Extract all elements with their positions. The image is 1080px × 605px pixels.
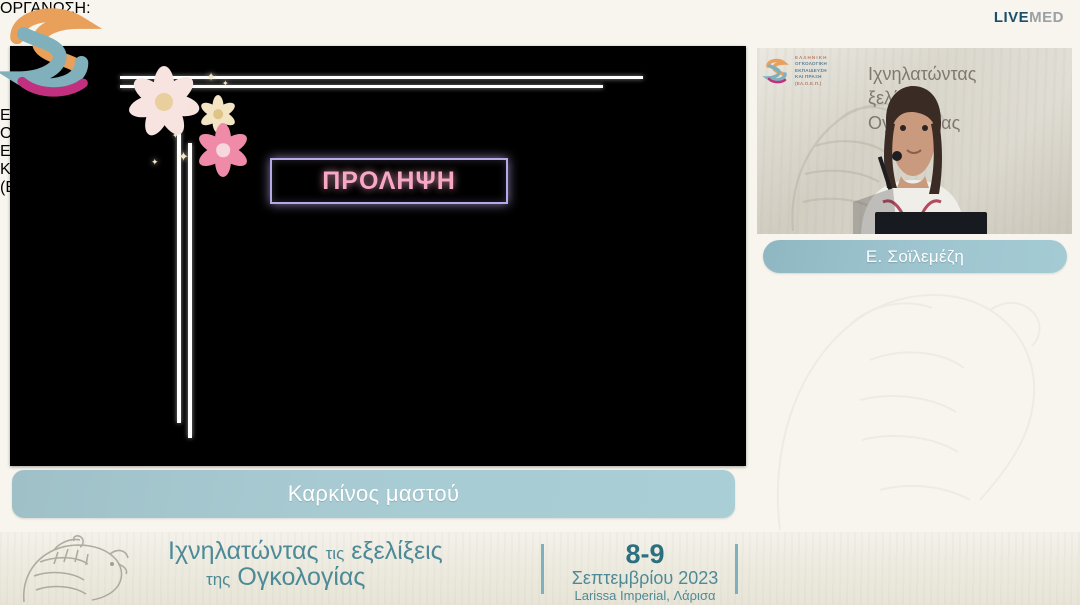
banner-date-month: Σεπτεμβρίου 2023 (560, 569, 730, 588)
conf-title-small-1: τις (326, 544, 345, 563)
video-logo-line5: (ΕΛ.Ο.Ε.Π.) (795, 81, 828, 88)
livemed-med-text: MED (1029, 9, 1064, 26)
podium-laptop (875, 212, 987, 234)
org-logo-line1: ΕΛΛΗΝΙΚΗ (0, 107, 102, 125)
video-logo-line2: ΟΓΚΟΛΟΓΙΚΗ (795, 61, 828, 68)
speaker-name: Ε. Σοϊλεμέζη (866, 247, 964, 267)
org-logo-line4: ΚΑΙ ΠΡΑΞΗ (0, 161, 102, 179)
backdrop-line-1: Ιχνηλατώντας (868, 62, 1068, 86)
session-title: Καρκίνος μαστού (288, 481, 460, 507)
speaker-name-badge: Ε. Σοϊλεμέζη (763, 240, 1067, 273)
sparkle-icon-6: ✦ (151, 158, 159, 167)
sparkle-icon-1: ✦ (206, 71, 216, 83)
banner-divider-right (735, 544, 738, 594)
banner-date-days: 8-9 (560, 540, 730, 569)
speaker-video[interactable]: ΕΛΛΗΝΙΚΗ ΟΓΚΟΛΟΓΙΚΗ ΕΚΠΑΙΔΕΥΣΗ ΚΑΙ ΠΡΑΞΗ… (757, 48, 1072, 234)
sparkle-icon-3: ✦ (188, 105, 195, 113)
sparkle-icon-4: ✦ (172, 132, 179, 140)
slide-title-box: ΠΡΟΛΗΨΗ (270, 158, 508, 204)
slide-title: ΠΡΟΛΗΨΗ (322, 167, 456, 196)
org-logo-line5: (ΕΛ.Ο.Ε.Π.) (0, 179, 102, 197)
page-root: LIVEMED (0, 0, 1080, 605)
conf-title-small-2: της (206, 570, 230, 589)
conference-banner: Ιχνηλατώντας τις εξελίξεις της Ογκολογία… (0, 532, 1080, 605)
org-logo-line3: ΕΚΠΑΙΔΕΥΣΗ (0, 143, 102, 161)
org-logo-line2: ΟΓΚΟΛΟΓΙΚΗ (0, 125, 102, 143)
banner-conference-title: Ιχνηλατώντας τις εξελίξεις της Ογκολογία… (168, 538, 498, 591)
eloep-swirl-icon (762, 56, 792, 86)
presentation-slide[interactable]: ✦ ✦ ✦ ✦ ✦ ✦ ΠΡΟΛΗΨΗ (10, 46, 746, 466)
horse-watermark-icon (740, 250, 1080, 540)
slide-vline-left (177, 130, 181, 423)
banner-horse-icon (14, 534, 164, 604)
livemed-logo: LIVEMED (994, 9, 1064, 26)
banner-date-venue: Larissa Imperial, Λάρισα (560, 589, 730, 603)
flower-pink-icon (192, 119, 254, 181)
slide-vline-right (188, 143, 192, 438)
conf-title-main-2: Ογκολογίας (237, 563, 365, 591)
livemed-live-text: LIVE (994, 9, 1029, 26)
eloep-swirl-icon-large (0, 0, 102, 102)
conf-title-tail-1: εξελίξεις (351, 537, 442, 565)
banner-divider-left (541, 544, 544, 594)
organizer-eloep-logo: ΕΛΛΗΝΙΚΗ ΟΓΚΟΛΟΓΙΚΗ ΕΚΠΑΙΔΕΥΣΗ ΚΑΙ ΠΡΑΞΗ… (0, 0, 102, 197)
session-title-bar: Καρκίνος μαστού (12, 470, 735, 518)
sparkle-icon-2: ✦ (222, 80, 229, 88)
sparkle-icon-5: ✦ (178, 150, 189, 163)
video-eloep-logo: ΕΛΛΗΝΙΚΗ ΟΓΚΟΛΟΓΙΚΗ ΕΚΠΑΙΔΕΥΣΗ ΚΑΙ ΠΡΑΞΗ… (762, 53, 867, 89)
banner-dates: 8-9 Σεπτεμβρίου 2023 Larissa Imperial, Λ… (560, 540, 730, 603)
conf-title-main-1: Ιχνηλατώντας (168, 537, 319, 565)
